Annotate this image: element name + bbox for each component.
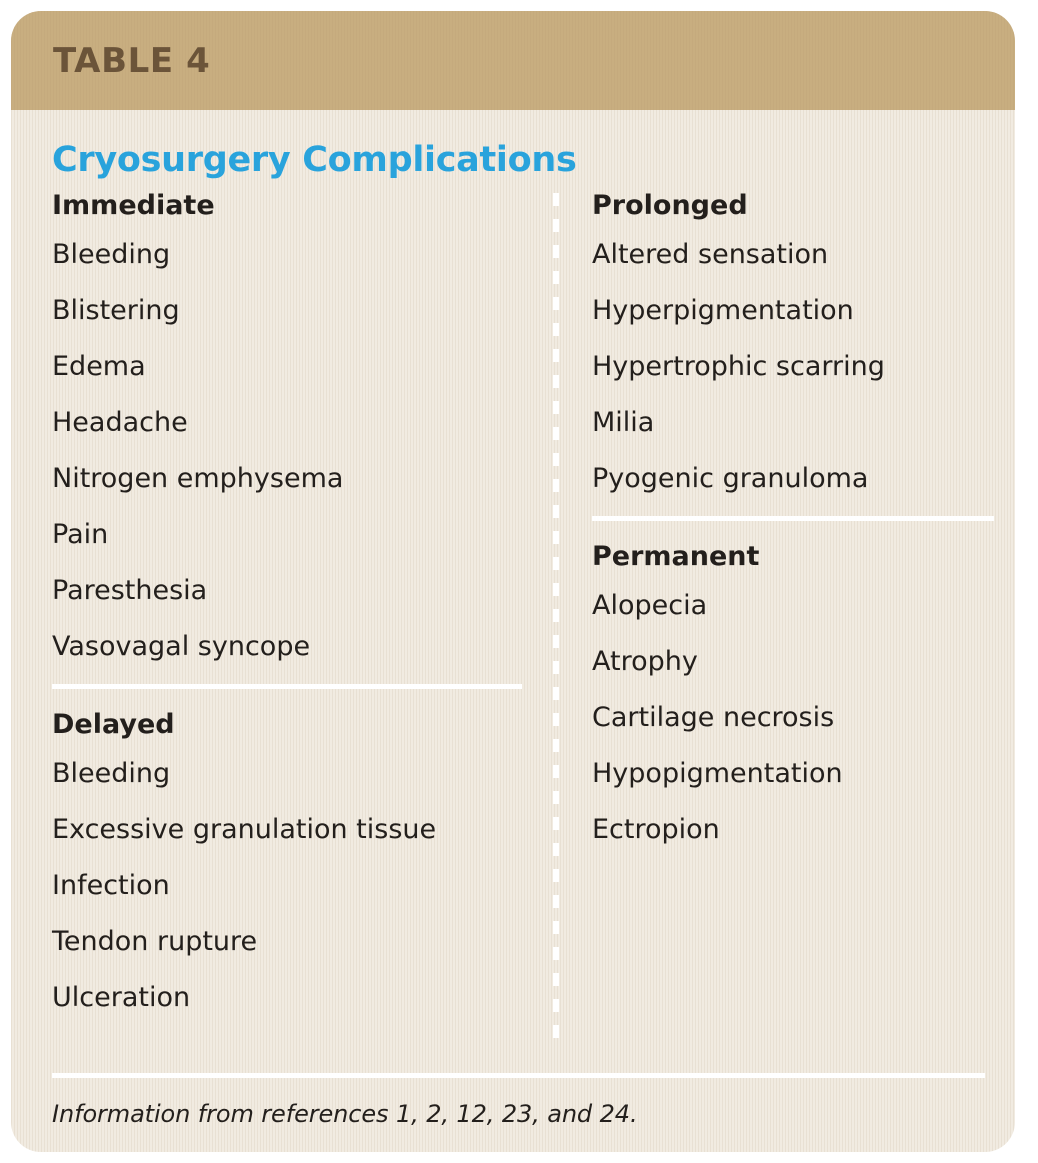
group-heading-permanent: Permanent	[592, 543, 994, 570]
section-divider-left	[52, 684, 522, 689]
list-item: Bleeding	[52, 241, 522, 268]
source-footnote: Information from references 1, 2, 12, 23…	[52, 1100, 985, 1128]
list-item: Hyperpigmentation	[592, 297, 994, 324]
column-left: Immediate Bleeding Blistering Edema Head…	[52, 192, 552, 1011]
list-item: Milia	[592, 409, 994, 436]
list-item: Altered sensation	[592, 241, 994, 268]
list-item: Nitrogen emphysema	[52, 465, 522, 492]
group-delayed: Delayed Bleeding Excessive granulation t…	[52, 711, 522, 1011]
column-divider-dashed	[553, 193, 559, 1044]
table-columns: Immediate Bleeding Blistering Edema Head…	[52, 192, 985, 1011]
list-item: Bleeding	[52, 760, 522, 787]
table-header-band: TABLE 4	[11, 11, 1015, 110]
footer-divider	[52, 1073, 985, 1078]
group-immediate: Immediate Bleeding Blistering Edema Head…	[52, 192, 522, 660]
list-item: Blistering	[52, 297, 522, 324]
list-item: Hypopigmentation	[592, 760, 994, 787]
list-item: Paresthesia	[52, 577, 522, 604]
group-heading-prolonged: Prolonged	[592, 192, 994, 219]
group-heading-immediate: Immediate	[52, 192, 522, 219]
list-item: Infection	[52, 872, 522, 899]
column-right: Prolonged Altered sensation Hyperpigment…	[552, 192, 994, 843]
list-item: Cartilage necrosis	[592, 704, 994, 731]
list-item: Ulceration	[52, 984, 522, 1011]
list-item: Atrophy	[592, 648, 994, 675]
list-item: Vasovagal syncope	[52, 633, 522, 660]
table-footer: Information from references 1, 2, 12, 23…	[52, 1073, 985, 1128]
table-body: Cryosurgery Complications Immediate Blee…	[11, 110, 1015, 1152]
list-item: Alopecia	[592, 592, 994, 619]
section-divider-right	[592, 516, 994, 521]
list-item: Ectropion	[592, 816, 994, 843]
list-item: Tendon rupture	[52, 928, 522, 955]
group-permanent: Permanent Alopecia Atrophy Cartilage nec…	[592, 543, 994, 843]
list-item: Pain	[52, 521, 522, 548]
table-card: TABLE 4 Cryosurgery Complications Immedi…	[11, 11, 1015, 1152]
list-item: Headache	[52, 409, 522, 436]
list-item: Edema	[52, 353, 522, 380]
list-item: Pyogenic granuloma	[592, 465, 994, 492]
group-heading-delayed: Delayed	[52, 711, 522, 738]
list-item: Excessive granulation tissue	[52, 816, 522, 843]
list-item: Hypertrophic scarring	[592, 353, 994, 380]
table-title: Cryosurgery Complications	[52, 110, 985, 192]
table-number-label: TABLE 4	[53, 41, 210, 81]
group-prolonged: Prolonged Altered sensation Hyperpigment…	[592, 192, 994, 492]
